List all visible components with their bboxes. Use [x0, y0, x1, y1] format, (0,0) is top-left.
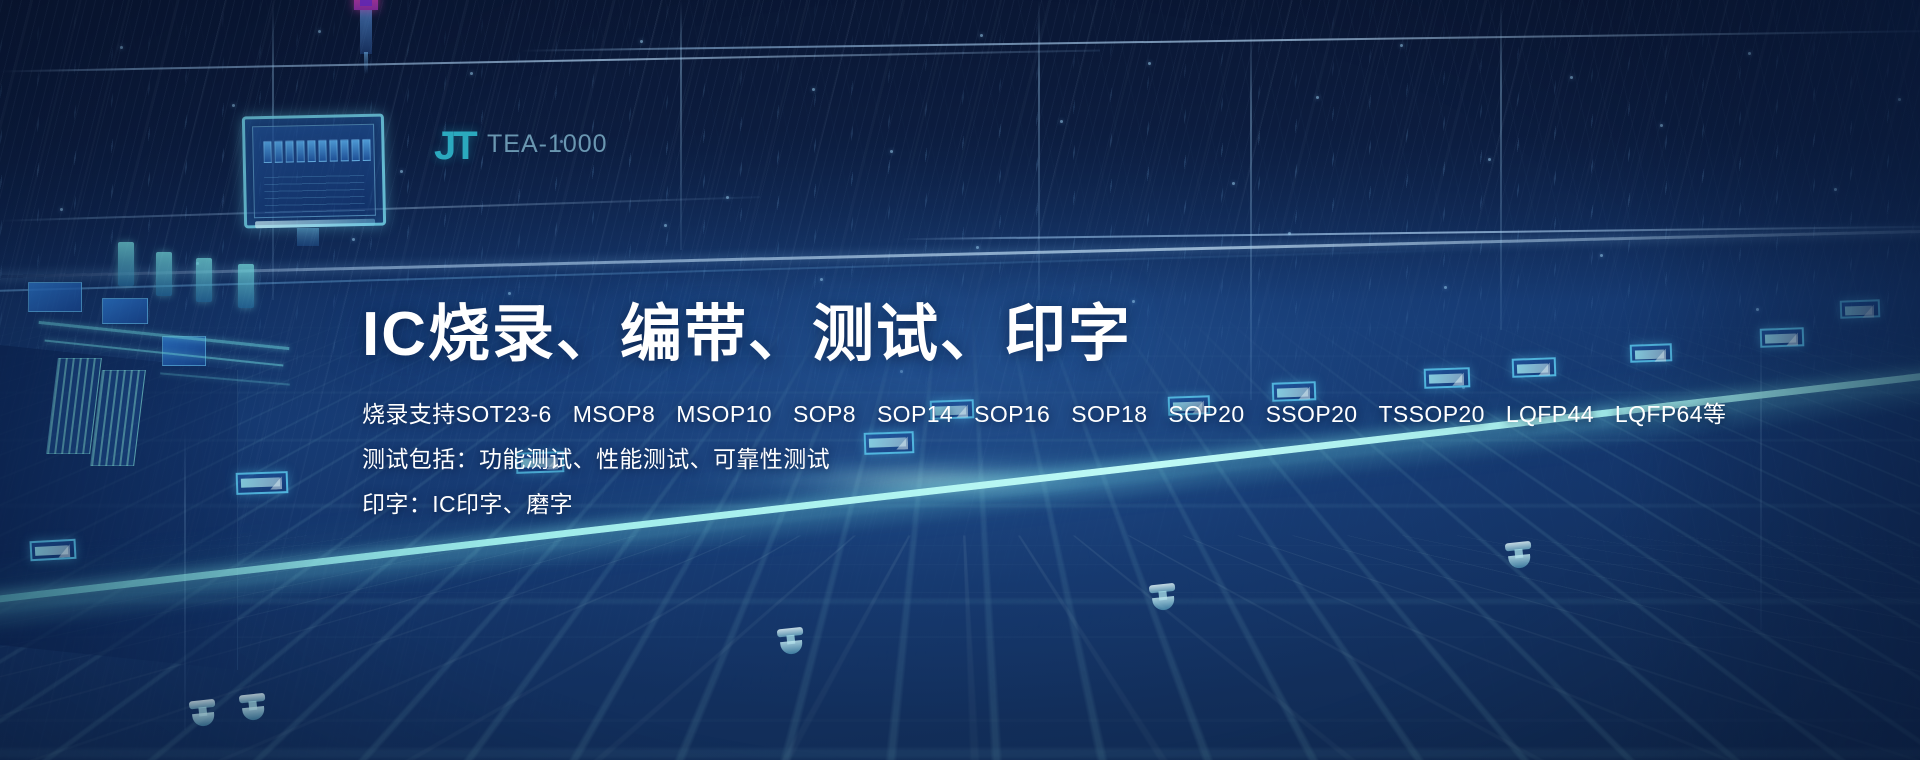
- ic-services-hero-banner: JT TEA-1000 IC烧录、编带、测试、印字: [0, 0, 1920, 760]
- burn-in-lead-label: 烧录支持SOT23-6: [362, 403, 552, 426]
- subtitle-group: 烧录支持SOT23-6MSOP8MSOP10SOP8SOP14SOP16SOP1…: [362, 403, 1662, 516]
- page-title: IC烧录、编带、测试、印字: [362, 300, 1662, 369]
- package-item: SOP16: [974, 403, 1050, 426]
- subline-testing: 测试包括：功能测试、性能测试、可靠性测试: [362, 448, 1662, 471]
- subline-burn-in: 烧录支持SOT23-6MSOP8MSOP10SOP8SOP14SOP16SOP1…: [362, 403, 1662, 426]
- package-item: TSSOP20: [1378, 403, 1484, 426]
- package-item: SOP8: [793, 403, 856, 426]
- package-item: SOP18: [1071, 403, 1147, 426]
- package-item: MSOP10: [676, 403, 772, 426]
- package-item: LQFP64等: [1615, 403, 1726, 426]
- package-item: SSOP20: [1266, 403, 1358, 426]
- package-list: MSOP8MSOP10SOP8SOP14SOP16SOP18SOP20SSOP2…: [573, 401, 1727, 427]
- subline-marking: 印字：IC印字、磨字: [362, 493, 1662, 516]
- package-item: SOP20: [1168, 403, 1244, 426]
- right-edge-fade: [1620, 0, 1920, 760]
- package-item: LQFP44: [1506, 403, 1594, 426]
- package-item: SOP14: [877, 403, 953, 426]
- package-item: MSOP8: [573, 403, 656, 426]
- hero-text-block: IC烧录、编带、测试、印字 烧录支持SOT23-6MSOP8MSOP10SOP8…: [362, 300, 1662, 516]
